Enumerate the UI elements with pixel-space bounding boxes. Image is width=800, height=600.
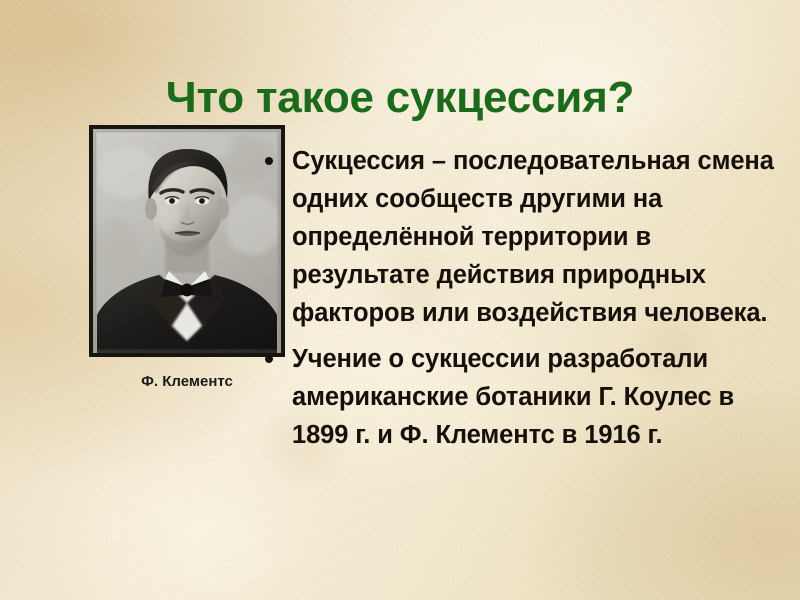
portrait-figure: Ф. Клементс — [89, 125, 285, 390]
portrait-photo — [93, 129, 281, 353]
list-item-text: Сукцессия – последовательная смена одних… — [292, 147, 774, 327]
slide-canvas: Что такое сукцессия? — [0, 0, 800, 600]
body-bullet-list: Сукцессия – последовательная смена одних… — [262, 142, 774, 454]
list-item-text: Учение о сукцессии разработали американс… — [292, 345, 734, 449]
page-title: Что такое сукцессия? — [0, 73, 800, 123]
portrait-caption: Ф. Клементс — [89, 373, 285, 390]
portrait-frame — [89, 125, 285, 357]
bullet-dot-icon — [265, 157, 273, 165]
list-item: Учение о сукцессии разработали американс… — [262, 340, 774, 454]
list-item: Сукцессия – последовательная смена одних… — [262, 142, 774, 332]
portrait-illustration — [93, 129, 281, 353]
bullet-dot-icon — [265, 355, 273, 363]
